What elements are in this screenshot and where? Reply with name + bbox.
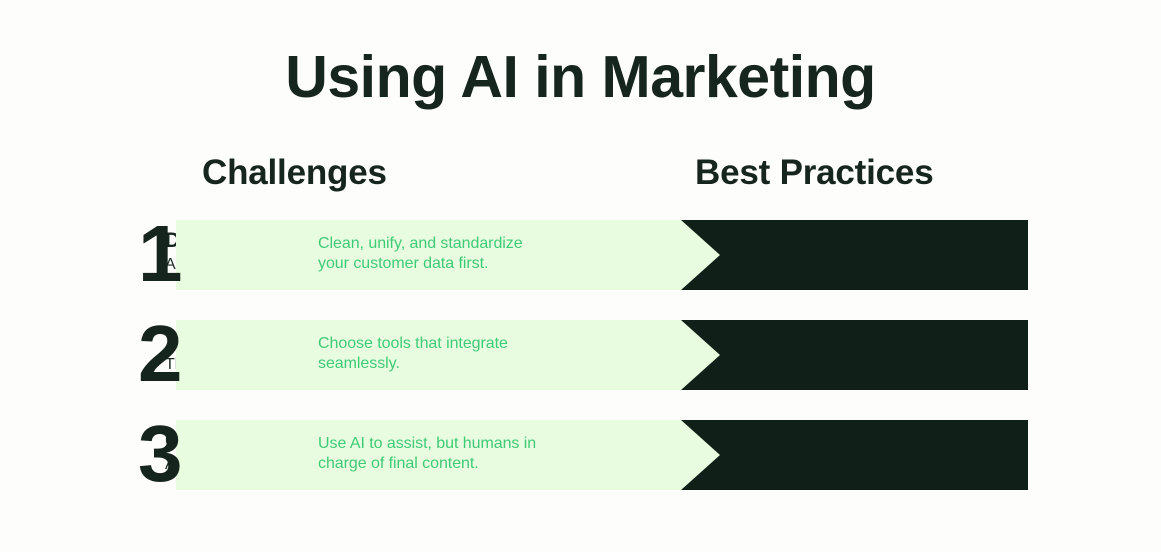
comparison-row: 3 Generic AI Output AI can sound robotic… — [138, 420, 1028, 490]
infographic-canvas: Using AI in Marketing Challenges Best Pr… — [0, 0, 1161, 552]
best-practice-text-group: Choose tools that integrate seamlessly. — [318, 334, 648, 374]
best-practice-line: charge of final content. — [318, 454, 648, 474]
best-practice-line: seamlessly. — [318, 354, 648, 374]
rows-container: 1 Disorganized Data AI is only as good a… — [0, 0, 1161, 552]
row-number: 1 — [138, 212, 182, 298]
row-number: 2 — [138, 312, 182, 398]
comparison-row: 2 Too Many Tools The number of AI tools … — [138, 320, 1028, 390]
best-practice-text-group: Use AI to assist, but humans in charge o… — [318, 434, 648, 474]
best-practice-text-group: Clean, unify, and standardize your custo… — [318, 234, 648, 274]
best-practice-line: Choose tools that integrate — [318, 334, 648, 354]
best-practice-line: your customer data first. — [318, 254, 648, 274]
row-number: 3 — [138, 412, 182, 498]
best-practice-line: Clean, unify, and standardize — [318, 234, 648, 254]
comparison-row: 1 Disorganized Data AI is only as good a… — [138, 220, 1028, 290]
best-practice-line: Use AI to assist, but humans in — [318, 434, 648, 454]
